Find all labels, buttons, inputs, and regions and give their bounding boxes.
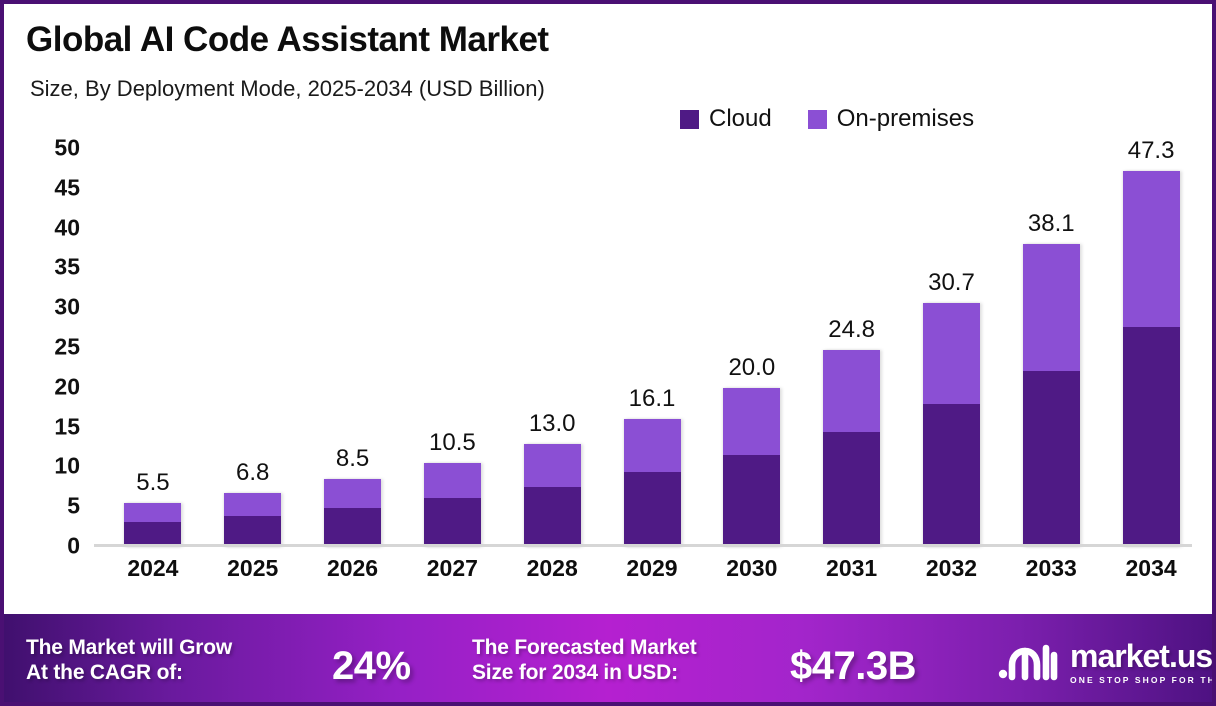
- bar-segment-on-premises[interactable]: [224, 493, 281, 516]
- bar-segment-on-premises[interactable]: [723, 388, 780, 456]
- bar-2032[interactable]: 30.7: [923, 303, 980, 547]
- bar-2028[interactable]: 13.0: [524, 444, 581, 547]
- cagr-label-line2: At the CAGR of:: [26, 661, 232, 686]
- bar-segment-cloud[interactable]: [823, 432, 880, 547]
- y-axis-tick-label: 0: [67, 533, 80, 560]
- cagr-label: The Market will Grow At the CAGR of:: [26, 636, 232, 686]
- page-subtitle: Size, By Deployment Mode, 2025-2034 (USD…: [30, 76, 545, 102]
- bar-2026[interactable]: 8.5: [324, 479, 381, 547]
- forecast-size-label-line2: Size for 2034 in USD:: [472, 661, 697, 686]
- bar-segment-cloud[interactable]: [923, 404, 980, 547]
- bar-segment-on-premises[interactable]: [923, 303, 980, 404]
- brand-logo[interactable]: market.us ONE STOP SHOP FOR THE REPORTS: [996, 640, 1216, 685]
- bar-2034[interactable]: 47.3: [1123, 171, 1180, 548]
- page-title: Global AI Code Assistant Market: [26, 20, 549, 60]
- y-axis-tick-label: 35: [54, 254, 80, 281]
- market-us-logo-icon: [996, 643, 1058, 683]
- bar-2033[interactable]: 38.1: [1023, 244, 1080, 547]
- y-axis-tick-label: 10: [54, 453, 80, 480]
- brand-logo-text: market.us ONE STOP SHOP FOR THE REPORTS: [1070, 640, 1216, 685]
- forecast-size-value: $47.3B: [790, 644, 916, 689]
- bar-value-label: 30.7: [891, 269, 1011, 297]
- bar-segment-cloud[interactable]: [624, 472, 681, 547]
- bar-segment-cloud[interactable]: [324, 508, 381, 547]
- y-axis-tick-label: 25: [54, 334, 80, 361]
- x-axis-baseline: [94, 544, 1192, 547]
- y-axis-tick-label: 40: [54, 214, 80, 241]
- brand-tagline: ONE STOP SHOP FOR THE REPORTS: [1070, 675, 1216, 685]
- bar-2029[interactable]: 16.1: [624, 419, 681, 547]
- bar-segment-cloud[interactable]: [424, 498, 481, 547]
- brand-name: market.us: [1070, 640, 1216, 672]
- bar-2031[interactable]: 24.8: [823, 350, 880, 547]
- bar-segment-cloud[interactable]: [224, 516, 281, 547]
- bar-value-label: 47.3: [1091, 137, 1211, 165]
- bar-chart-plot-area: 05101520253035404550 5.56.88.510.513.016…: [94, 122, 1192, 547]
- bar-2030[interactable]: 20.0: [723, 388, 780, 547]
- bar-segment-on-premises[interactable]: [823, 350, 880, 433]
- bar-value-label: 16.1: [592, 385, 712, 413]
- summary-banner: The Market will Grow At the CAGR of: 24%…: [4, 614, 1212, 702]
- y-axis-tick-label: 50: [54, 135, 80, 162]
- cagr-value: 24%: [332, 644, 411, 689]
- bar-segment-on-premises[interactable]: [524, 444, 581, 488]
- y-axis-tick-label: 15: [54, 413, 80, 440]
- bar-segment-cloud[interactable]: [1123, 327, 1180, 547]
- bar-value-label: 38.1: [991, 210, 1111, 238]
- bar-value-label: 24.8: [792, 316, 912, 344]
- bar-segment-on-premises[interactable]: [1123, 171, 1180, 328]
- y-axis-tick-label: 20: [54, 373, 80, 400]
- y-axis-tick-label: 30: [54, 294, 80, 321]
- bar-segment-on-premises[interactable]: [624, 419, 681, 472]
- bar-segment-on-premises[interactable]: [124, 503, 181, 521]
- y-axis-tick-label: 45: [54, 174, 80, 201]
- bar-segment-on-premises[interactable]: [1023, 244, 1080, 371]
- bar-segment-cloud[interactable]: [524, 487, 581, 547]
- bar-value-label: 20.0: [692, 354, 812, 382]
- bar-segment-cloud[interactable]: [1023, 371, 1080, 547]
- bar-segment-on-premises[interactable]: [324, 479, 381, 508]
- bar-2024[interactable]: 5.5: [124, 503, 181, 547]
- cagr-label-line1: The Market will Grow: [26, 636, 232, 661]
- forecast-size-label-line1: The Forecasted Market: [472, 636, 697, 661]
- y-axis-tick-label: 5: [67, 493, 80, 520]
- bar-segment-cloud[interactable]: [723, 455, 780, 547]
- bar-segment-on-premises[interactable]: [424, 463, 481, 498]
- forecast-size-label: The Forecasted Market Size for 2034 in U…: [472, 636, 697, 686]
- bar-2027[interactable]: 10.5: [424, 463, 481, 547]
- infographic-card: Global AI Code Assistant Market Size, By…: [0, 0, 1216, 706]
- x-axis-tick-label-2034: 2034: [1091, 555, 1211, 582]
- bar-2025[interactable]: 6.8: [224, 493, 281, 547]
- bar-value-label: 13.0: [492, 410, 612, 438]
